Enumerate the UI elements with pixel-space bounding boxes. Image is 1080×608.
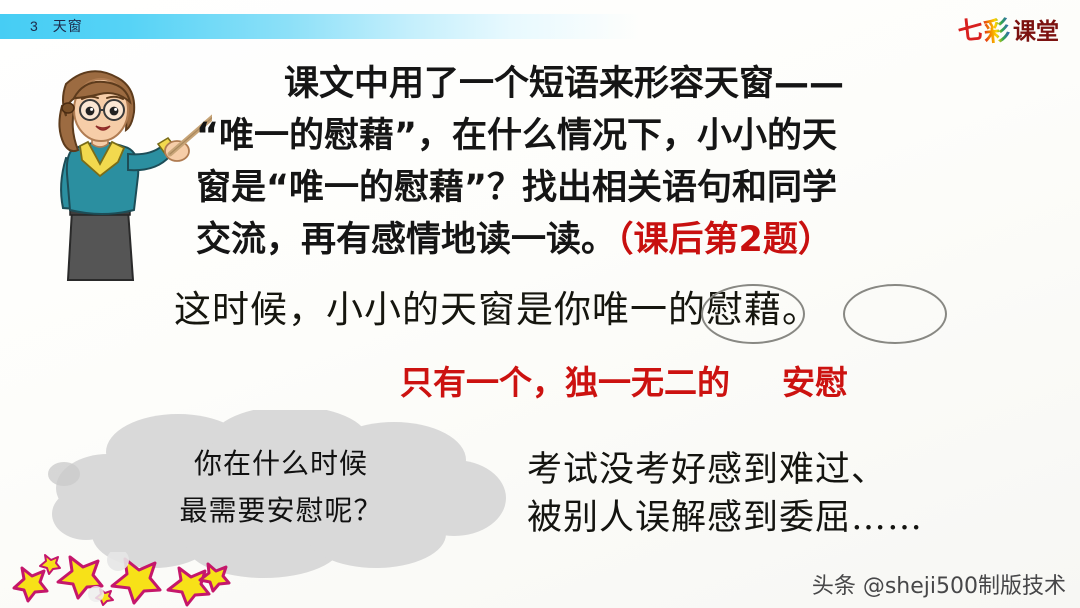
- stars-decoration: [0, 552, 240, 608]
- answer-line-2: 被别人误解感到委屈……: [527, 494, 923, 542]
- slide-canvas: 3天窗 七 彩 课堂: [0, 0, 1080, 608]
- gloss-right: 安慰: [782, 363, 848, 402]
- svg-text:课堂: 课堂: [1013, 19, 1059, 45]
- circle-annotation-weijie: [843, 284, 947, 344]
- lesson-title: 天窗: [53, 18, 83, 34]
- circle-annotation-weiyi: [701, 284, 805, 344]
- gloss-annotation: 只有一个，独一无二的安慰: [400, 356, 848, 404]
- question-line-3: 窗是“唯一的慰藉”？找出相关语句和同学: [196, 162, 996, 214]
- svg-text:七: 七: [956, 15, 984, 46]
- exercise-reference: （课后第2题）: [616, 220, 833, 260]
- bubble-line-2: 最需要安慰呢？: [46, 487, 516, 534]
- thought-bubble-text: 你在什么时候 最需要安慰呢？: [46, 440, 516, 534]
- question-text-block: 课文中用了一个短语来形容天窗—— “唯一的慰藉”，在什么情况下，小小的天 窗是“…: [196, 58, 996, 266]
- svg-text:彩: 彩: [981, 16, 1011, 49]
- breadcrumb: 3天窗: [30, 16, 83, 36]
- brand-logo: 七 彩 课堂: [956, 9, 1068, 49]
- question-line-4: 交流，再有感情地读一读。（课后第2题）: [196, 214, 996, 266]
- student-answer-text: 考试没考好感到难过、 被别人误解感到委屈……: [527, 446, 923, 542]
- gloss-left: 只有一个，独一无二的: [400, 363, 730, 402]
- lesson-number: 3: [30, 18, 39, 34]
- teacher-illustration: [32, 58, 212, 283]
- answer-line-1: 考试没考好感到难过、: [527, 446, 923, 494]
- question-line-2: “唯一的慰藉”，在什么情况下，小小的天: [196, 110, 996, 162]
- question-line-4-text: 交流，再有感情地读一读。: [196, 220, 616, 260]
- stars-icon: [0, 552, 240, 608]
- header-gradient-bar: [0, 14, 640, 39]
- teacher-icon: [32, 58, 212, 283]
- question-line-1: 课文中用了一个短语来形容天窗——: [196, 58, 996, 110]
- logo-icon: 七 彩 课堂: [956, 9, 1068, 49]
- bubble-line-1: 你在什么时候: [46, 440, 516, 487]
- watermark: 头条 @sheji500制版技术: [812, 568, 1066, 600]
